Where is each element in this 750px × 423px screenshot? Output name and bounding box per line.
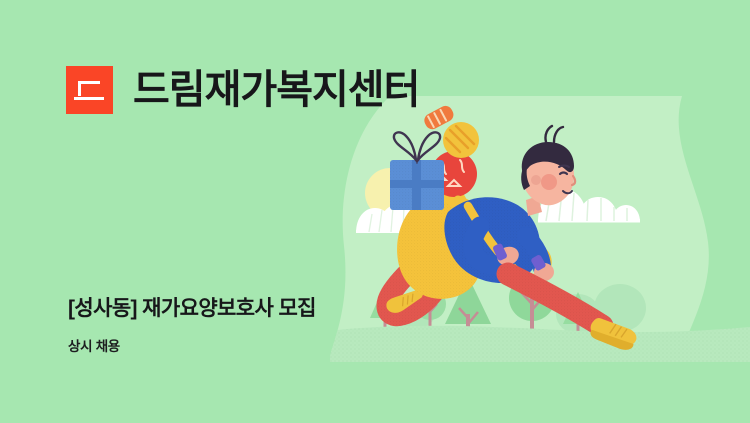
header: 드림재가복지센터 <box>66 66 419 114</box>
illustration-running-person <box>330 96 750 366</box>
job-poster: 드림재가복지센터 [성사동] 재가요양보호사 모집 상시 채용 <box>0 0 750 423</box>
organization-title: 드림재가복지센터 <box>133 70 419 110</box>
digeut-logo-icon <box>66 66 113 114</box>
ground <box>330 326 750 362</box>
ball-yellow <box>443 122 479 158</box>
logo-stroke-top <box>78 81 100 84</box>
job-posting-title: [성사동] 재가요양보호사 모집 <box>68 297 316 320</box>
job-posting-status: 상시 채용 <box>68 340 120 355</box>
cheek-blush <box>541 174 557 190</box>
logo-stroke-side <box>78 81 81 96</box>
illustration-panel <box>330 96 750 366</box>
logo-stroke-bottom <box>74 97 104 100</box>
